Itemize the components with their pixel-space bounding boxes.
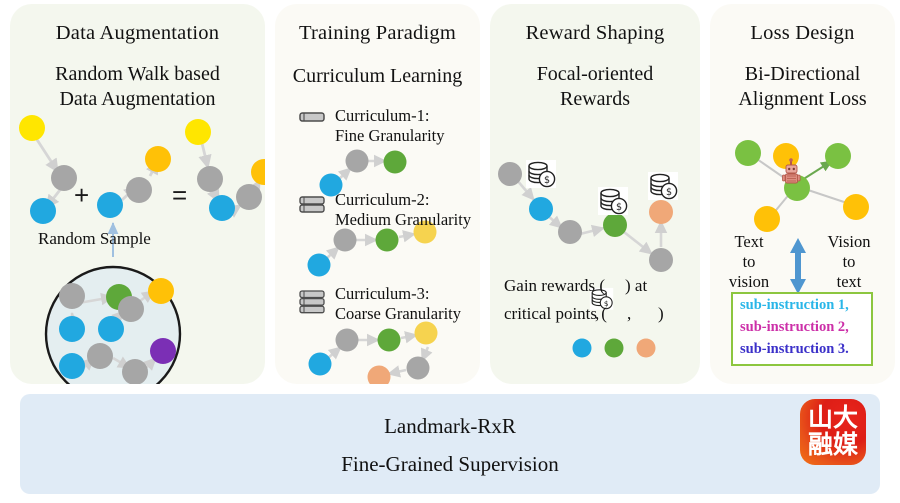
panel-title: Loss Design [710, 22, 895, 45]
vision-to-text-l1: Vision [827, 232, 870, 251]
panel-subtitle: Focal-oriented Rewards [490, 62, 700, 112]
panel-title: Reward Shaping [490, 22, 700, 45]
logo-row-1: 山大 [800, 405, 866, 431]
critical-points-comma-1: , [595, 304, 599, 325]
curriculum-1-label: Curriculum-1: Fine Granularity [335, 106, 445, 146]
graph-result [185, 119, 265, 221]
vision-to-text-label: Vision to text [814, 232, 884, 292]
panel-subtitle-line2: Rewards [560, 88, 630, 110]
curriculum-2-label: Curriculum-2: Medium Granularity [335, 190, 471, 230]
panel-subtitle: Bi-Directional Alignment Loss [710, 62, 895, 112]
sub-instruction-1: sub-instruction 1, [733, 294, 871, 316]
legend-node-blue [573, 339, 592, 358]
book-stack-3-icon [300, 291, 324, 313]
coin-stack-icon-1 [526, 160, 556, 188]
sample-pool-circle [46, 267, 180, 384]
panel-subtitle-line2: Data Augmentation [59, 88, 215, 110]
figure-canvas: Data Augmentation Random Walk based Data… [0, 0, 900, 503]
text-to-vision-l3: vision [729, 272, 769, 291]
critical-points-close-paren: ) [658, 304, 664, 325]
coin-stack-icon-2 [598, 187, 628, 215]
sub-instruction-2: sub-instruction 2, [733, 316, 871, 338]
graph-left [19, 115, 77, 224]
text-to-vision-l2: to [743, 252, 756, 271]
equals-operator: = [172, 180, 187, 211]
legend-node-orange [637, 339, 656, 358]
panel-subtitle-line2: Alignment Loss [738, 88, 866, 110]
graph-curriculum-3 [309, 322, 438, 385]
panel-reward-shaping: Reward Shaping Focal-oriented Rewards $ [490, 4, 700, 384]
vision-to-text-l3: text [837, 272, 862, 291]
reward-path-graph [498, 162, 673, 272]
sub-instruction-3: sub-instruction 3. [733, 338, 871, 360]
legend-node-green [605, 339, 624, 358]
organization-logo: 山大 融媒 [800, 399, 866, 465]
star-graph [735, 140, 869, 232]
robot-icon [783, 158, 801, 183]
curriculum-2-line2: Medium Granularity [335, 210, 471, 229]
plus-operator: + [74, 180, 89, 211]
book-stack-2-icon [300, 197, 324, 212]
panel-subtitle-line1: Focal-oriented [537, 63, 654, 85]
curriculum-1-line2: Fine Granularity [335, 126, 445, 145]
vision-to-text-l2: to [843, 252, 856, 271]
critical-points-line2-a: critical points ( [504, 304, 607, 325]
gain-rewards-line1-a: Gain rewards ( [504, 276, 605, 297]
coin-stack-icon-3 [648, 172, 678, 200]
book-stack-1-icon [300, 113, 324, 121]
curriculum-1-line1: Curriculum-1: [335, 106, 429, 125]
sub-instruction-box: sub-instruction 1, sub-instruction 2, su… [731, 292, 873, 366]
panel-subtitle: Curriculum Learning [275, 64, 480, 89]
banner-line1: Landmark-RxR [20, 414, 880, 439]
panel-subtitle-line1: Random Walk based [55, 63, 220, 85]
random-sample-caption: Random Sample [38, 229, 151, 250]
curriculum-2-line1: Curriculum-2: [335, 190, 429, 209]
panel-title: Data Augmentation [10, 22, 265, 45]
curriculum-3-label: Curriculum-3: Coarse Granularity [335, 284, 461, 324]
panel-title: Training Paradigm [275, 22, 480, 45]
text-to-vision-l1: Text [734, 232, 763, 251]
text-to-vision-label: Text to vision [718, 232, 780, 292]
banner-line2: Fine-Grained Supervision [20, 452, 880, 477]
graph-middle [97, 146, 171, 218]
logo-row-2: 融媒 [800, 432, 866, 458]
panel-subtitle: Random Walk based Data Augmentation [10, 62, 265, 112]
gain-rewards-line1-b: ) at [625, 276, 647, 297]
bidirectional-arrow-icon [790, 238, 806, 294]
bottom-banner: Landmark-RxR Fine-Grained Supervision [20, 394, 880, 494]
augmentation-diagram [10, 4, 265, 384]
panel-data-augmentation: Data Augmentation Random Walk based Data… [10, 4, 265, 384]
reward-diagram: $ [490, 4, 700, 384]
panel-subtitle-line1: Bi-Directional [745, 63, 861, 85]
panel-training-paradigm: Training Paradigm Curriculum Learning [275, 4, 480, 384]
curriculum-3-line2: Coarse Granularity [335, 304, 461, 323]
curriculum-3-line1: Curriculum-3: [335, 284, 429, 303]
critical-points-comma-2: , [627, 304, 631, 325]
